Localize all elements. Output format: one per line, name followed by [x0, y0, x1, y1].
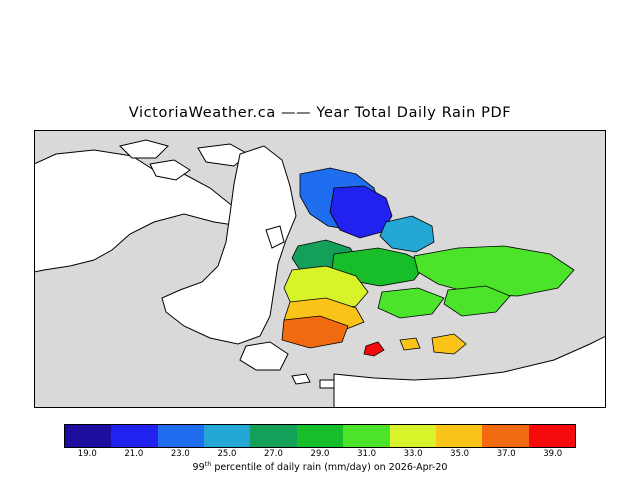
colorbar-cell-3: [204, 425, 250, 447]
colorbar-tick-1: 21.0: [114, 449, 154, 459]
colorbar-tick-4: 27.0: [253, 449, 293, 459]
colorbar-cell-2: [158, 425, 204, 447]
colorbar-cell-4: [250, 425, 296, 447]
colorbar-cell-0: [65, 425, 111, 447]
rain-percentile-map: [34, 130, 606, 408]
page-title: VictoriaWeather.ca —— Year Total Daily R…: [0, 105, 640, 121]
islet-2: [320, 380, 334, 388]
region-islet-amber: [400, 338, 420, 350]
colorbar-cell-1: [111, 425, 157, 447]
colorbar-tick-3: 25.0: [207, 449, 247, 459]
colorbar-cell-6: [343, 425, 389, 447]
colorbar-cell-7: [390, 425, 436, 447]
map-panel: [34, 130, 606, 408]
colorbar-tick-10: 39.0: [533, 449, 573, 459]
colorbar-label-rest: percentile of daily rain (mm/day) on 202…: [211, 462, 447, 473]
colorbar-tick-8: 35.0: [440, 449, 480, 459]
colorbar-tick-9: 37.0: [486, 449, 526, 459]
colorbar-tick-5: 29.0: [300, 449, 340, 459]
colorbar-tick-2: 23.0: [160, 449, 200, 459]
colorbar-tick-7: 33.0: [393, 449, 433, 459]
colorbar-label: 99th percentile of daily rain (mm/day) o…: [0, 460, 640, 473]
app-root: VictoriaWeather.ca —— Year Total Daily R…: [0, 0, 640, 480]
colorbar-cell-10: [529, 425, 575, 447]
colorbar-label-prefix: 99: [193, 462, 205, 473]
colorbar: [64, 424, 576, 448]
colorbar-cell-9: [482, 425, 528, 447]
colorbar-cell-5: [297, 425, 343, 447]
colorbar-cell-8: [436, 425, 482, 447]
islet-1: [292, 374, 310, 384]
colorbar-tick-0: 19.0: [67, 449, 107, 459]
colorbar-tick-6: 31.0: [347, 449, 387, 459]
